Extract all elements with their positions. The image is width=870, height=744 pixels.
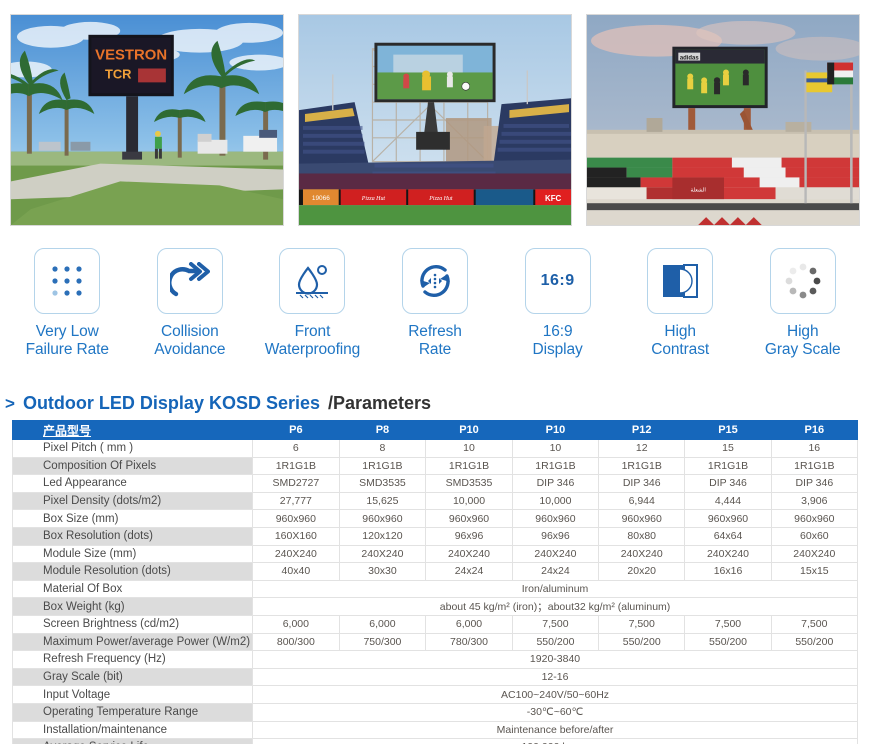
row-value-cell: 240X240	[685, 545, 771, 563]
row-value-cell: 24x24	[426, 563, 513, 581]
feature-icon-box	[34, 248, 100, 314]
row-value-merged: 12-16	[253, 668, 858, 686]
row-value-cell: 1R1G1B	[253, 457, 340, 475]
row-value-merged: Maintenance before/after	[253, 721, 858, 739]
feature-label: High Contrast	[620, 323, 740, 359]
row-value-cell: 10,000	[512, 492, 598, 510]
row-value-cell: 550/200	[512, 633, 598, 651]
feature-icon-box: 16:9	[525, 248, 591, 314]
row-label: Module Size (mm)	[13, 545, 253, 563]
feature-label: Refresh Rate	[375, 323, 495, 359]
feature-front-waterproofing: Front Waterproofing	[251, 248, 374, 370]
row-value-cell: 240X240	[339, 545, 426, 563]
row-value-merged: about 45 kg/m² (iron)；about32 kg/m² (alu…	[253, 598, 858, 616]
row-value-cell: 1R1G1B	[685, 457, 771, 475]
row-value-cell: 240X240	[253, 545, 340, 563]
row-value-cell: 96x96	[426, 527, 513, 545]
curved-arrow-icon	[170, 262, 210, 300]
header-cell-p15: P15	[685, 421, 771, 440]
photo-stadium-screen-dusk: adidas	[586, 14, 860, 226]
feature-label-line1: Refresh	[375, 323, 495, 341]
feature-label: High Gray Scale	[743, 323, 863, 359]
row-value-cell: 240X240	[426, 545, 513, 563]
feature-16-9-display: 16:9 16:9 Display	[496, 248, 619, 370]
feature-label: Very Low Failure Rate	[7, 323, 127, 359]
row-value-cell: 780/300	[426, 633, 513, 651]
row-value-cell: 750/300	[339, 633, 426, 651]
feature-icon-box	[647, 248, 713, 314]
row-value-cell: 960x960	[685, 510, 771, 528]
row-label: Maximum Power/average Power (W/m2)	[13, 633, 253, 651]
row-value-cell: 7,500	[599, 615, 685, 633]
feature-label-line1: 16:9	[498, 323, 618, 341]
row-value-cell: 20x20	[599, 563, 685, 581]
feature-label: 16:9 Display	[498, 323, 618, 359]
feature-label: Front Waterproofing	[252, 323, 372, 359]
row-value-cell: 120x120	[339, 527, 426, 545]
table-row: Box Resolution (dots)160X160120x12096x96…	[13, 527, 858, 545]
feature-icon-box	[770, 248, 836, 314]
row-value-merged: AC100~240V/50~60Hz	[253, 686, 858, 704]
row-label: Box Size (mm)	[13, 510, 253, 528]
row-value-cell: 960x960	[771, 510, 857, 528]
table-row: Installation/maintenanceMaintenance befo…	[13, 721, 858, 739]
row-value-cell: 15,625	[339, 492, 426, 510]
row-value-cell: 10,000	[426, 492, 513, 510]
feature-label-line2: Waterproofing	[252, 341, 372, 359]
row-value-cell: 40x40	[253, 563, 340, 581]
row-value-cell: 960x960	[599, 510, 685, 528]
svg-text:Pizza Hut: Pizza Hut	[428, 196, 453, 202]
feature-label-line2: Avoidance	[130, 341, 250, 359]
table-row: Gray Scale (bit)12-16	[13, 668, 858, 686]
row-value-merged: Iron/aluminum	[253, 580, 858, 598]
contrast-icon	[661, 263, 699, 299]
feature-refresh-rate: Refresh Rate	[374, 248, 497, 370]
photo-vestron-billboard: VESTRON TCR	[10, 14, 284, 226]
row-value-cell: 24x24	[512, 563, 598, 581]
row-value-cell: 6,000	[253, 615, 340, 633]
svg-text:Pizza Hut: Pizza Hut	[361, 196, 386, 202]
product-spec-page: VESTRON TCR	[0, 0, 870, 744]
row-value-cell: 550/200	[771, 633, 857, 651]
row-value-cell: 16x16	[685, 563, 771, 581]
svg-text:KFC: KFC	[545, 194, 562, 203]
feature-label-line1: Collision	[130, 323, 250, 341]
row-label: Installation/maintenance	[13, 721, 253, 739]
row-label: Input Voltage	[13, 686, 253, 704]
feature-icon-box	[279, 248, 345, 314]
water-drop-icon	[292, 262, 332, 300]
table-row: Maximum Power/average Power (W/m2)800/30…	[13, 633, 858, 651]
header-cell-p10a: P10	[426, 421, 513, 440]
row-label: Average Service Life	[13, 739, 253, 744]
row-value-cell: 10	[426, 440, 513, 458]
row-value-cell: 240X240	[771, 545, 857, 563]
row-value-cell: 12	[599, 440, 685, 458]
feature-very-low-failure-rate: Very Low Failure Rate	[6, 248, 129, 370]
feature-label-line1: High	[743, 323, 863, 341]
table-row: Box Weight (kg)about 45 kg/m² (iron)；abo…	[13, 598, 858, 616]
section-title-secondary: /Parameters	[328, 393, 431, 414]
row-value-cell: 1R1G1B	[599, 457, 685, 475]
svg-text:الشعلة: الشعلة	[690, 187, 705, 193]
svg-text:adidas: adidas	[680, 56, 700, 62]
header-cell-p10b: P10	[512, 421, 598, 440]
feature-label-line2: Failure Rate	[7, 341, 127, 359]
row-value-cell: 8	[339, 440, 426, 458]
svg-text:TCR: TCR	[105, 66, 132, 81]
row-value-cell: 1R1G1B	[771, 457, 857, 475]
row-label: Module Resolution (dots)	[13, 563, 253, 581]
row-value-cell: 800/300	[253, 633, 340, 651]
table-row: Composition Of Pixels1R1G1B1R1G1B1R1G1B1…	[13, 457, 858, 475]
table-row: Box Size (mm)960x960960x960960x960960x96…	[13, 510, 858, 528]
table-row: Module Resolution (dots)40x4030x3024x242…	[13, 563, 858, 581]
row-label: Pixel Density (dots/m2)	[13, 492, 253, 510]
row-value-cell: 6,944	[599, 492, 685, 510]
row-value-cell: SMD3535	[339, 475, 426, 493]
row-value-cell: 64x64	[685, 527, 771, 545]
feature-label: Collision Avoidance	[130, 323, 250, 359]
row-label: Led Appearance	[13, 475, 253, 493]
row-value-cell: 960x960	[253, 510, 340, 528]
row-value-cell: 1R1G1B	[426, 457, 513, 475]
row-value-cell: 1R1G1B	[512, 457, 598, 475]
header-cell-p8: P8	[339, 421, 426, 440]
table-row: Pixel Pitch ( mm )681010121516	[13, 440, 858, 458]
row-value-cell: DIP 346	[685, 475, 771, 493]
feature-collision-avoidance: Collision Avoidance	[129, 248, 252, 370]
header-cell-p16: P16	[771, 421, 857, 440]
row-value-cell: SMD3535	[426, 475, 513, 493]
svg-text:VESTRON: VESTRON	[95, 48, 167, 64]
row-value-merged: 100,000 hours	[253, 739, 858, 744]
row-value-cell: 550/200	[599, 633, 685, 651]
row-value-cell: 7,500	[771, 615, 857, 633]
header-cell-model: 产品型号	[13, 421, 253, 440]
row-label: Refresh Frequency (Hz)	[13, 651, 253, 669]
feature-icon-box	[157, 248, 223, 314]
feature-label-line1: High	[620, 323, 740, 341]
feature-high-contrast: High Contrast	[619, 248, 742, 370]
svg-text:19066: 19066	[312, 195, 330, 202]
row-value-cell: SMD2727	[253, 475, 340, 493]
row-value-cell: 15	[685, 440, 771, 458]
feature-label-line2: Display	[498, 341, 618, 359]
feature-label-line2: Rate	[375, 341, 495, 359]
row-value-cell: 550/200	[685, 633, 771, 651]
section-title-primary: Outdoor LED Display KOSD Series	[23, 393, 320, 414]
section-heading: > Outdoor LED Display KOSD Series /Param…	[5, 393, 431, 414]
row-value-cell: 60x60	[771, 527, 857, 545]
aspect-ratio-icon: 16:9	[541, 272, 575, 290]
table-header-row: 产品型号 P6 P8 P10 P10 P12 P15 P16	[13, 421, 858, 440]
row-value-cell: 6,000	[339, 615, 426, 633]
feature-label-line2: Gray Scale	[743, 341, 863, 359]
photo-gallery: VESTRON TCR	[10, 14, 860, 226]
row-label: Material Of Box	[13, 580, 253, 598]
table-row: Screen Brightness (cd/m2)6,0006,0006,000…	[13, 615, 858, 633]
feature-highlights: Very Low Failure Rate Collision Avoidanc…	[6, 248, 864, 370]
gray-scale-icon	[784, 262, 822, 300]
table-row: Material Of BoxIron/aluminum	[13, 580, 858, 598]
row-value-cell: 16	[771, 440, 857, 458]
row-value-cell: 160X160	[253, 527, 340, 545]
table-row: Pixel Density (dots/m2)27,77715,62510,00…	[13, 492, 858, 510]
row-label: Operating Temperature Range	[13, 703, 253, 721]
row-value-cell: 960x960	[426, 510, 513, 528]
row-value-cell: 6	[253, 440, 340, 458]
chevron-right-icon: >	[5, 394, 15, 414]
row-label: Box Weight (kg)	[13, 598, 253, 616]
specifications-table: 产品型号 P6 P8 P10 P10 P12 P15 P16 Pixel Pit…	[12, 420, 858, 744]
row-value-cell: 240X240	[512, 545, 598, 563]
feature-high-gray-scale: High Gray Scale	[741, 248, 864, 370]
row-value-cell: 80x80	[599, 527, 685, 545]
table-row: Input VoltageAC100~240V/50~60Hz	[13, 686, 858, 704]
row-label: Pixel Pitch ( mm )	[13, 440, 253, 458]
row-value-cell: DIP 346	[599, 475, 685, 493]
table-row: Average Service Life100,000 hours	[13, 739, 858, 744]
table-row: Led AppearanceSMD2727SMD3535SMD3535DIP 3…	[13, 475, 858, 493]
row-value-cell: 6,000	[426, 615, 513, 633]
row-value-cell: 3,906	[771, 492, 857, 510]
row-value-cell: 27,777	[253, 492, 340, 510]
row-value-cell: 1R1G1B	[339, 457, 426, 475]
row-label: Box Resolution (dots)	[13, 527, 253, 545]
table-row: Operating Temperature Range-30℃~60℃	[13, 703, 858, 721]
header-cell-p12: P12	[599, 421, 685, 440]
row-value-cell: 7,500	[685, 615, 771, 633]
row-label: Gray Scale (bit)	[13, 668, 253, 686]
row-label: Screen Brightness (cd/m2)	[13, 615, 253, 633]
feature-label-line2: Contrast	[620, 341, 740, 359]
row-value-cell: 30x30	[339, 563, 426, 581]
row-value-merged: 1920-3840	[253, 651, 858, 669]
row-value-cell: 10	[512, 440, 598, 458]
row-value-cell: 960x960	[512, 510, 598, 528]
header-cell-p6: P6	[253, 421, 340, 440]
row-value-cell: 15x15	[771, 563, 857, 581]
row-value-cell: 4,444	[685, 492, 771, 510]
dot-grid-icon	[48, 262, 86, 300]
row-value-cell: 7,500	[512, 615, 598, 633]
refresh-icon	[415, 262, 455, 300]
row-value-cell: 96x96	[512, 527, 598, 545]
feature-icon-box	[402, 248, 468, 314]
row-value-cell: DIP 346	[512, 475, 598, 493]
row-value-cell: 960x960	[339, 510, 426, 528]
feature-label-line1: Front	[252, 323, 372, 341]
table-row: Refresh Frequency (Hz)1920-3840	[13, 651, 858, 669]
row-value-cell: DIP 346	[771, 475, 857, 493]
feature-label-line1: Very Low	[7, 323, 127, 341]
photo-stadium-scoreboard: 19066 Pizza Hut Pizza Hut KFC	[298, 14, 572, 226]
row-value-cell: 240X240	[599, 545, 685, 563]
table-row: Module Size (mm)240X240240X240240X240240…	[13, 545, 858, 563]
row-value-merged: -30℃~60℃	[253, 703, 858, 721]
row-label: Composition Of Pixels	[13, 457, 253, 475]
